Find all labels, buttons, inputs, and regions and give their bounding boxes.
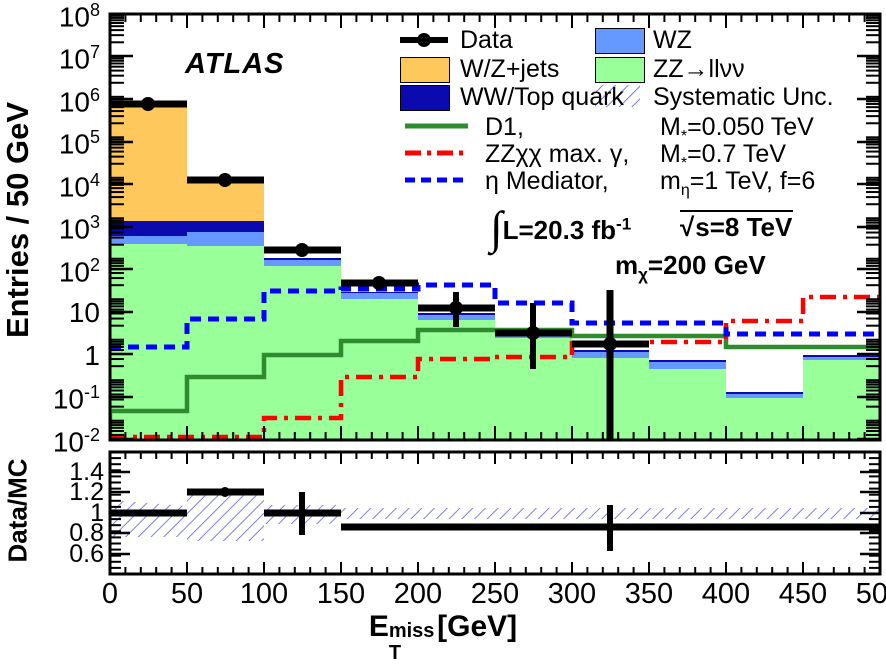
mass-annotation: mχ=200 GeV [615, 250, 766, 285]
legend-param-eta: mη=1 TeV, f=6 [660, 167, 815, 200]
data-marker [449, 301, 463, 315]
legend-label-zz: ZZ→llνν [653, 55, 745, 84]
xtick-label: 300 [532, 578, 612, 611]
data-marker [141, 97, 155, 111]
signal-curve-d1 [110, 330, 880, 440]
xtick-label: 200 [378, 578, 458, 611]
ytick-label: 104 [0, 170, 100, 203]
legend-swatch-wwtop [400, 85, 450, 111]
energy-annotation: √s=8 TeV [680, 210, 793, 243]
legend-label-data: Data [460, 26, 513, 55]
data-marker [526, 326, 540, 340]
data-marker [603, 337, 617, 351]
legend-swatch-wzjets [400, 57, 450, 83]
ytick-label: 102 [0, 255, 100, 288]
ytick-label: 108 [0, 0, 100, 33]
legend-label-d1: D1, [485, 113, 524, 142]
ytick-label: 106 [0, 85, 100, 118]
xtick-label: 0 [70, 578, 150, 611]
legend-swatch-zz [595, 57, 645, 83]
luminosity-text: L=20.3 fb-1 [503, 215, 632, 245]
data-marker [295, 243, 309, 257]
xtick-label: 250 [455, 578, 535, 611]
atlas-label: ATLAS [185, 48, 285, 81]
data-marker [218, 173, 232, 187]
ytick-label: 107 [0, 42, 100, 75]
xtick-label: 400 [686, 578, 766, 611]
ratio-axis-frame [110, 452, 880, 574]
ratio-panel-content [110, 487, 880, 551]
legend-label-wwtop: WW/Top quark [460, 83, 624, 112]
legend-label-systematic: Systematic Unc. [653, 83, 834, 112]
ytick-label: 103 [0, 212, 100, 245]
ytick-label: 105 [0, 127, 100, 160]
xtick-label: 100 [224, 578, 304, 611]
legend-swatch-wz [595, 28, 645, 54]
xtick-label: 350 [609, 578, 689, 611]
xtick-label: 450 [763, 578, 843, 611]
physics-plot-figure: Entries / 50 GeV Data/MC E miss T [GeV] … [0, 0, 886, 665]
ratio-marker [220, 487, 230, 497]
ytick-label: 10-1 [0, 382, 100, 415]
legend-label-eta: η Mediator, [485, 167, 609, 196]
signal-curve-zzcc [110, 297, 880, 437]
luminosity-annotation: ∫L=20.3 fb-1 [490, 205, 631, 251]
energy-text: s=8 TeV [694, 210, 793, 242]
signal-curve-eta [110, 285, 880, 347]
legend-label-wz: WZ [653, 26, 692, 55]
xtick-label: 150 [301, 578, 381, 611]
legend-data-marker [417, 33, 431, 47]
xtick-label: 50 [147, 578, 227, 611]
x-axis-title: E miss T [GeV] [0, 610, 886, 644]
legend-label-zzcc: ZZχχ max. γ, [485, 140, 629, 169]
ratio-systematic-band [110, 489, 880, 541]
ratio-ytick-label: 0.6 [0, 540, 104, 569]
legend-label-wzjets: W/Z+jets [460, 55, 559, 84]
ytick-label: 10 [0, 297, 100, 329]
ytick-label: 10-2 [0, 425, 100, 458]
data-marker [372, 276, 386, 290]
signal-curves [110, 285, 880, 440]
xtick-label: 500 [840, 578, 886, 611]
ytick-label: 1 [0, 340, 100, 372]
ratio-y-minor-ticks [110, 452, 880, 574]
